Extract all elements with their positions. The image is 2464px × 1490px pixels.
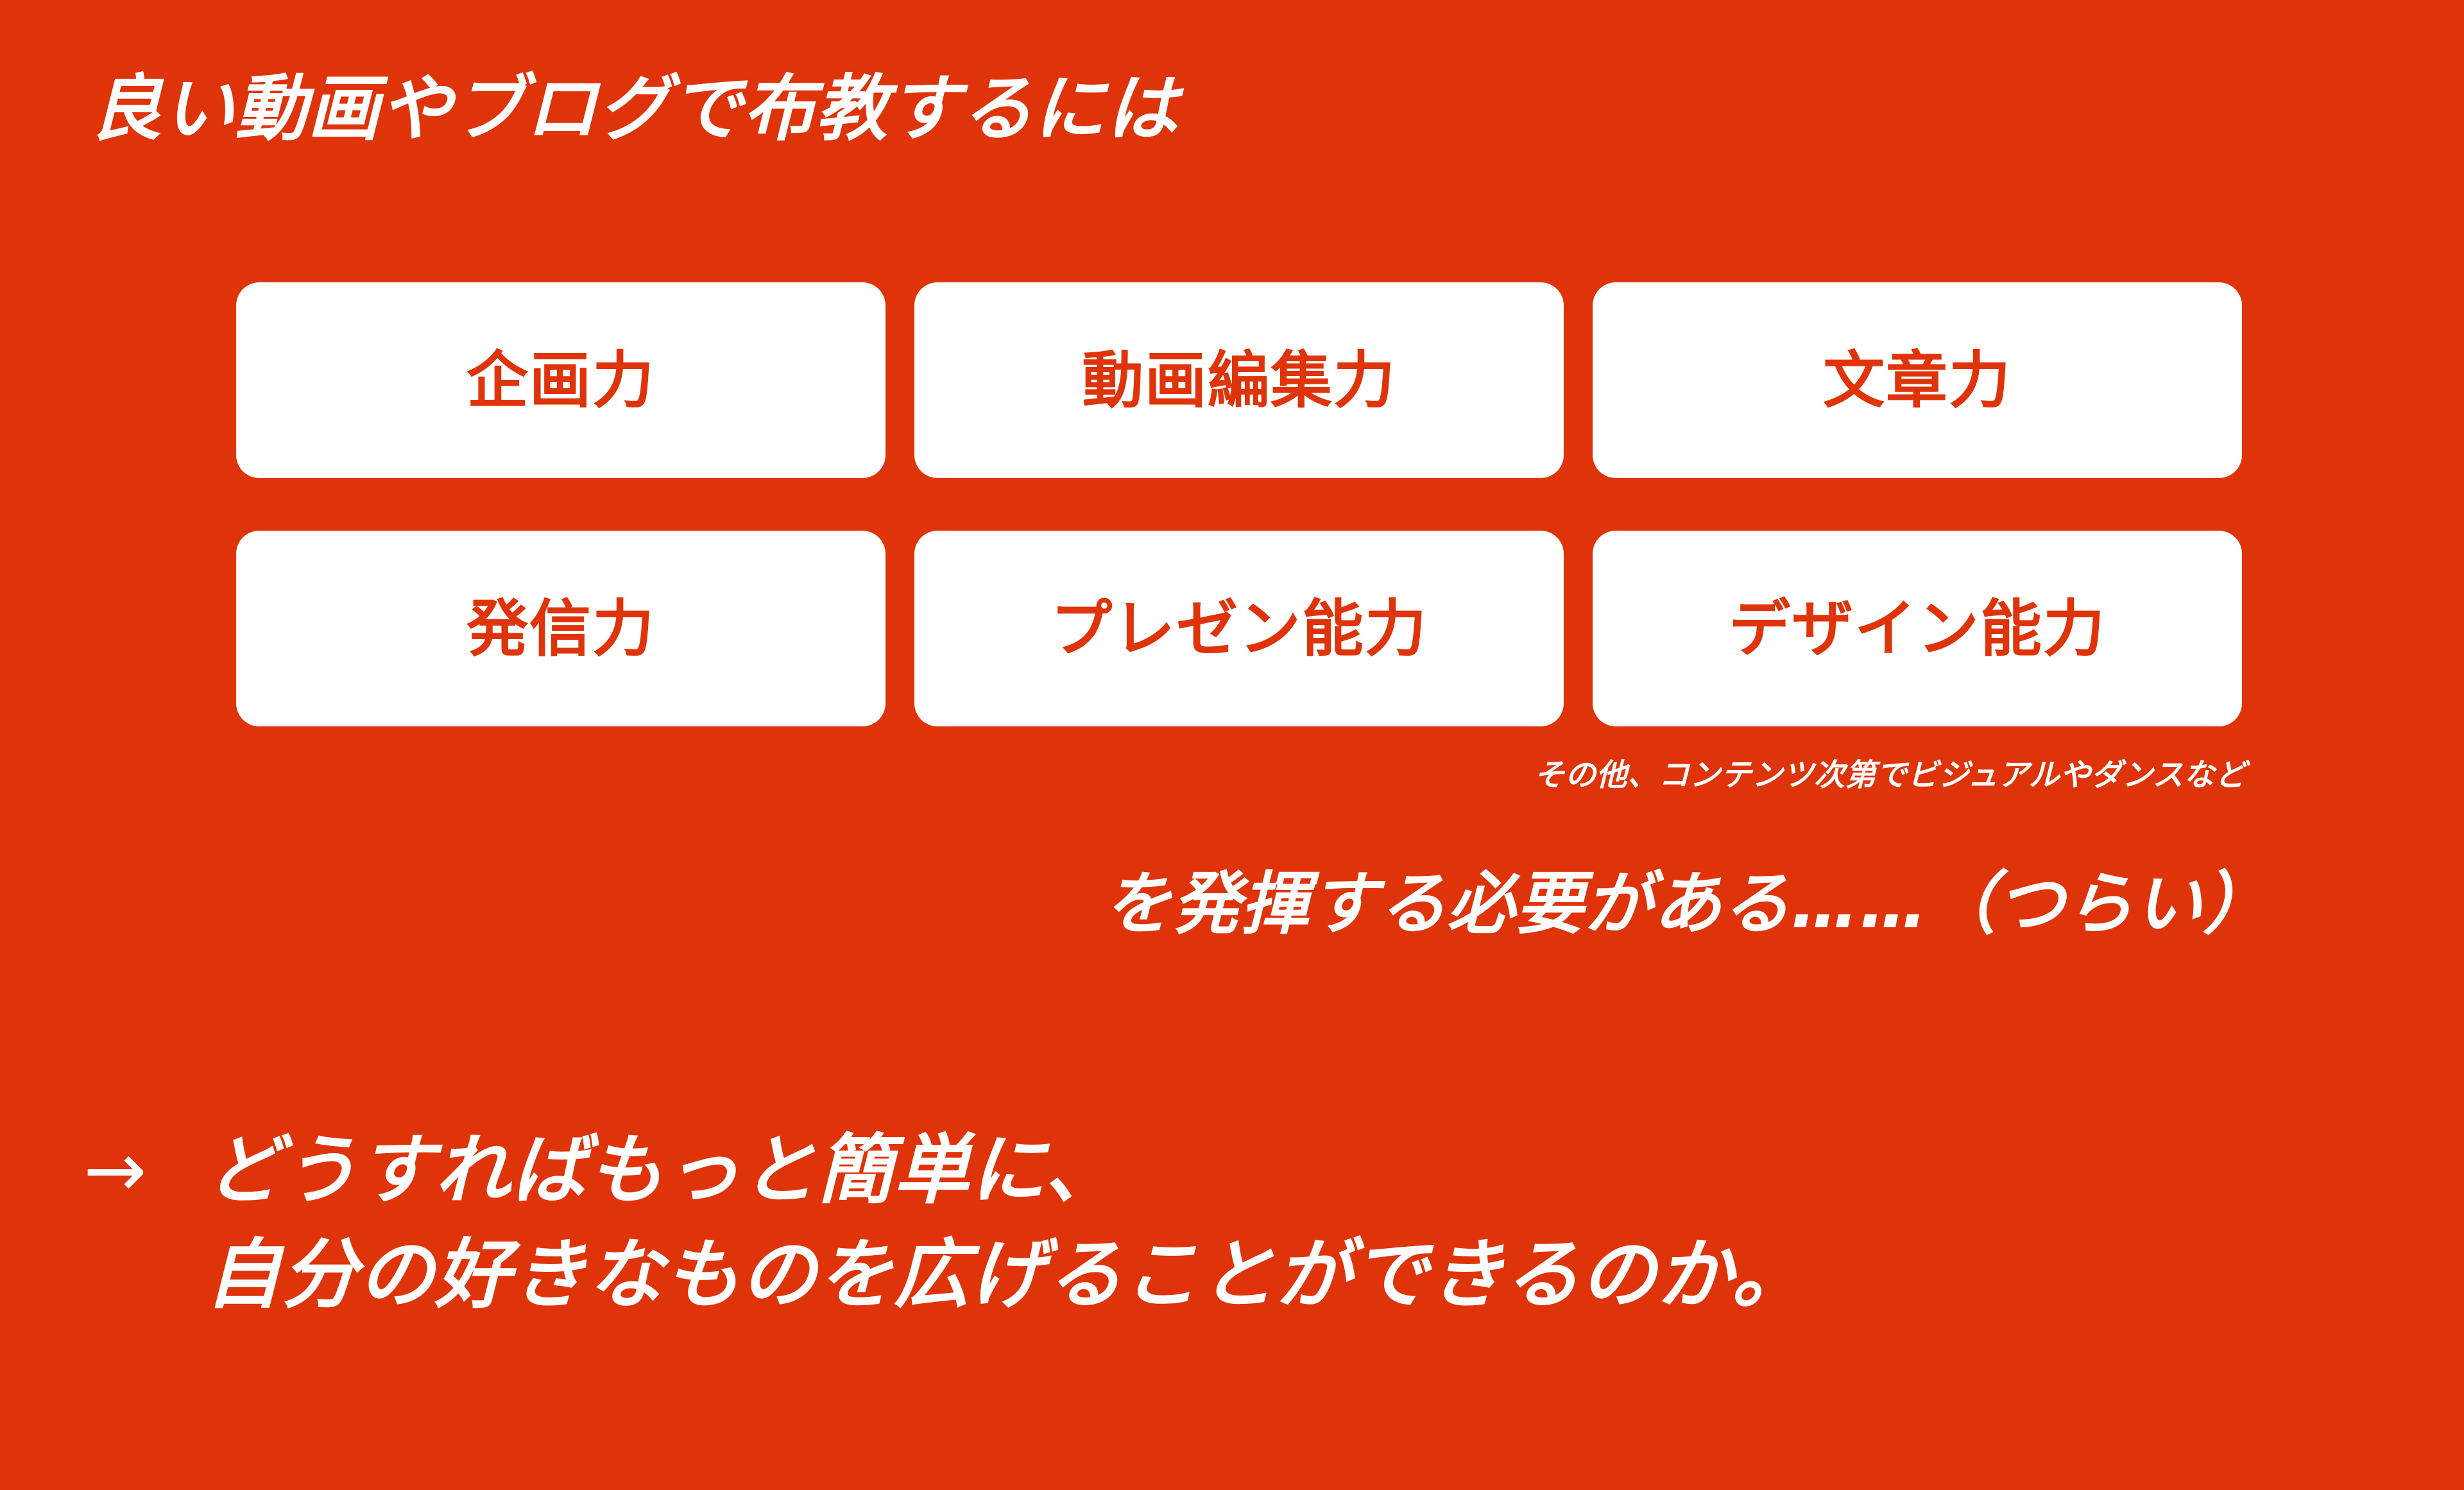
skill-card-grid: 企画力 動画編集力 文章力 発信力 プレゼン能力 デザイン能力 <box>236 282 2246 726</box>
skill-card-label: 発信力 <box>466 598 655 660</box>
skill-card-planning: 企画力 <box>236 282 886 478</box>
skill-card-video-editing: 動画編集力 <box>914 282 1564 478</box>
skill-card-label: デザイン能力 <box>1729 598 2106 660</box>
skill-card-label: 動画編集力 <box>1082 350 1396 411</box>
skill-card-label: 文章力 <box>1823 350 2012 411</box>
outro-row-2: 自分の好きなものを広げることができるのか。 <box>83 1222 1808 1327</box>
conclusion-text: を発揮する必要がある……（つらい） <box>1104 866 2271 943</box>
right-arrow-icon: → <box>83 1132 205 1208</box>
skill-card-presentation: プレゼン能力 <box>914 531 1564 726</box>
grid-caption: その他、コンテンツ次第でビジュアルやダンスなど <box>1534 758 2246 792</box>
skill-card-label: プレゼン能力 <box>1050 598 1428 660</box>
outro-line-1: どうすればもっと簡単に、 <box>205 1118 1121 1222</box>
slide-root: 良い動画やブログで布教するには 企画力 動画編集力 文章力 発信力 プレゼン能力… <box>0 0 2464 1490</box>
outro-row-1: → どうすればもっと簡単に、 <box>83 1118 1808 1222</box>
outro-block: → どうすればもっと簡単に、 自分の好きなものを広げることができるのか。 <box>83 1118 1808 1327</box>
skill-card-writing: 文章力 <box>1593 282 2242 478</box>
skill-card-label: 企画力 <box>466 350 655 411</box>
outro-line-2: 自分の好きなものを広げることができるのか。 <box>205 1222 1808 1327</box>
skill-card-outreach: 発信力 <box>236 531 886 726</box>
page-title: 良い動画やブログで布教するには <box>90 69 1179 150</box>
skill-card-design: デザイン能力 <box>1593 531 2242 726</box>
